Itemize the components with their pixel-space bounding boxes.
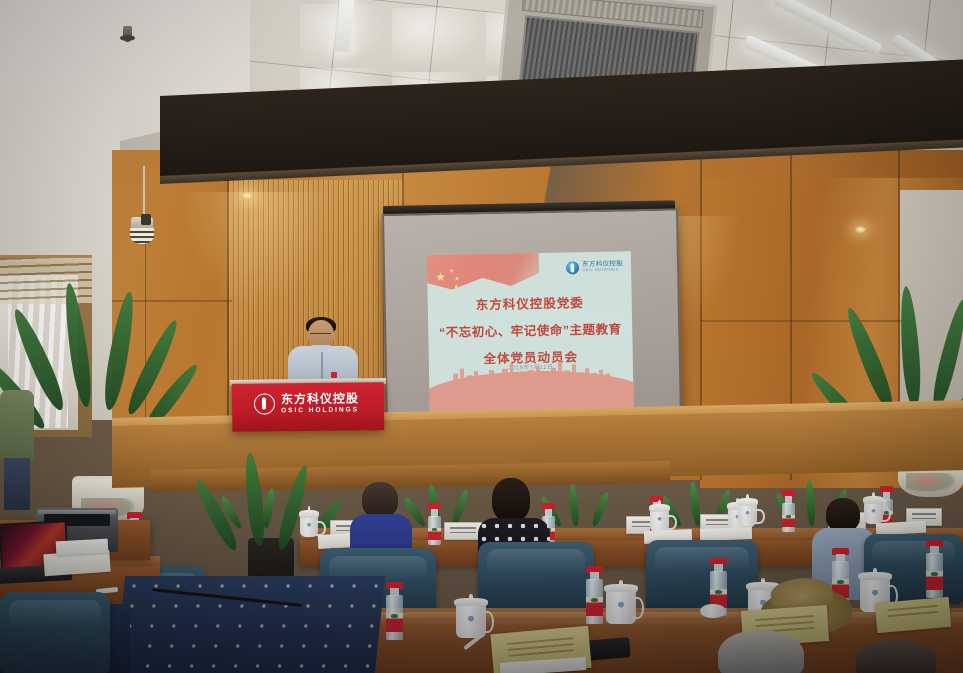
flag-stars: ★ ★ ★ ★ ★ xyxy=(433,262,486,297)
bottle-label xyxy=(386,613,403,632)
booklet-text xyxy=(507,637,575,660)
potted-plant-leaf xyxy=(590,491,610,528)
mug-lid xyxy=(649,504,670,512)
standing-person-legs xyxy=(4,458,30,510)
party-badge xyxy=(331,372,337,378)
mug-lid xyxy=(863,496,884,504)
ceiling-tile xyxy=(392,8,480,70)
water-bottle xyxy=(386,582,403,640)
bottle-label xyxy=(428,528,441,540)
flag-star-large: ★ xyxy=(435,273,447,281)
slide-subheading: “不忘初心、牢记使命”主题教育 xyxy=(428,318,632,341)
speaker-glasses-icon xyxy=(310,333,331,338)
attendee-hair xyxy=(492,478,530,522)
water-bottle xyxy=(782,490,795,532)
attendee-hair xyxy=(718,630,804,673)
camera-dome xyxy=(130,228,154,244)
lidded-tea-mug xyxy=(456,604,486,638)
water-bottle xyxy=(586,566,603,624)
podium-brand-chinese: 东方科仪控股 xyxy=(281,392,359,407)
audience-chair xyxy=(0,592,110,673)
document-sheet xyxy=(700,527,752,541)
lidded-tea-mug xyxy=(650,510,669,532)
attendee-hair xyxy=(856,640,936,673)
potted-plant-leaf xyxy=(568,484,580,527)
mug-handle xyxy=(314,521,326,536)
mug-saucer xyxy=(700,604,726,618)
ceiling-spotlight xyxy=(855,226,866,233)
podium-brand-logo: 东方科仪控股 OSIC HOLDINGS xyxy=(254,392,359,415)
standing-person-torso xyxy=(0,390,34,460)
audience-chair xyxy=(646,540,758,612)
logo-english-name: OSIC HOLDINGS xyxy=(582,268,623,272)
water-bottle xyxy=(926,540,943,598)
conference-room-photo: ★ ★ ★ ★ ★ 东方科仪控股 OSIC HOLDINGS 东方科仪控股党委 … xyxy=(0,0,963,673)
attendee-hair xyxy=(826,498,860,532)
audience-chair xyxy=(478,542,594,616)
attendee-standing-left xyxy=(0,390,34,510)
flag-star-small: ★ xyxy=(449,268,456,276)
osic-logo-icon xyxy=(566,261,579,274)
bottle-label xyxy=(782,515,795,527)
document-sheet xyxy=(56,539,109,556)
spotlight-wash xyxy=(180,192,330,312)
window-blind xyxy=(0,258,92,304)
attendee-hair xyxy=(362,482,398,518)
potted-plant-leaf xyxy=(262,488,275,529)
name-card-text xyxy=(450,527,476,532)
mug-lid xyxy=(299,510,319,518)
flag-star-small: ★ xyxy=(453,284,460,292)
yellow-booklet xyxy=(875,597,951,633)
lidded-tea-mug xyxy=(738,504,757,526)
lidded-tea-mug xyxy=(864,502,883,524)
camera-cable xyxy=(143,166,145,218)
delegate-name-card xyxy=(444,522,482,540)
flag-star-small: ★ xyxy=(454,276,461,284)
water-bottle xyxy=(428,503,441,545)
mug-lid xyxy=(858,572,892,580)
mug-lid xyxy=(604,584,638,592)
slide-heading: 东方科仪控股党委 xyxy=(428,291,632,314)
osic-logo-icon xyxy=(254,394,275,415)
mug-lid xyxy=(454,598,488,606)
mug-handle xyxy=(753,509,765,524)
presentation-slide: ★ ★ ★ ★ ★ 东方科仪控股 OSIC HOLDINGS 东方科仪控股党委 … xyxy=(427,251,634,411)
booklet-text xyxy=(887,605,938,621)
podium-brand-english: OSIC HOLDINGS xyxy=(281,406,359,414)
lidded-tea-mug xyxy=(300,516,318,537)
podium: 东方科仪控股 OSIC HOLDINGS xyxy=(232,382,385,432)
bottle-label xyxy=(586,597,603,616)
mug-lid xyxy=(737,498,758,506)
name-card-text xyxy=(912,513,936,518)
ceiling-sprinkler-head xyxy=(123,26,132,42)
lidded-tea-mug xyxy=(606,590,636,624)
slide-brand-logo: 东方科仪控股 OSIC HOLDINGS xyxy=(566,260,623,274)
bottle-label xyxy=(926,571,943,590)
camera-lens-icon xyxy=(141,214,151,225)
